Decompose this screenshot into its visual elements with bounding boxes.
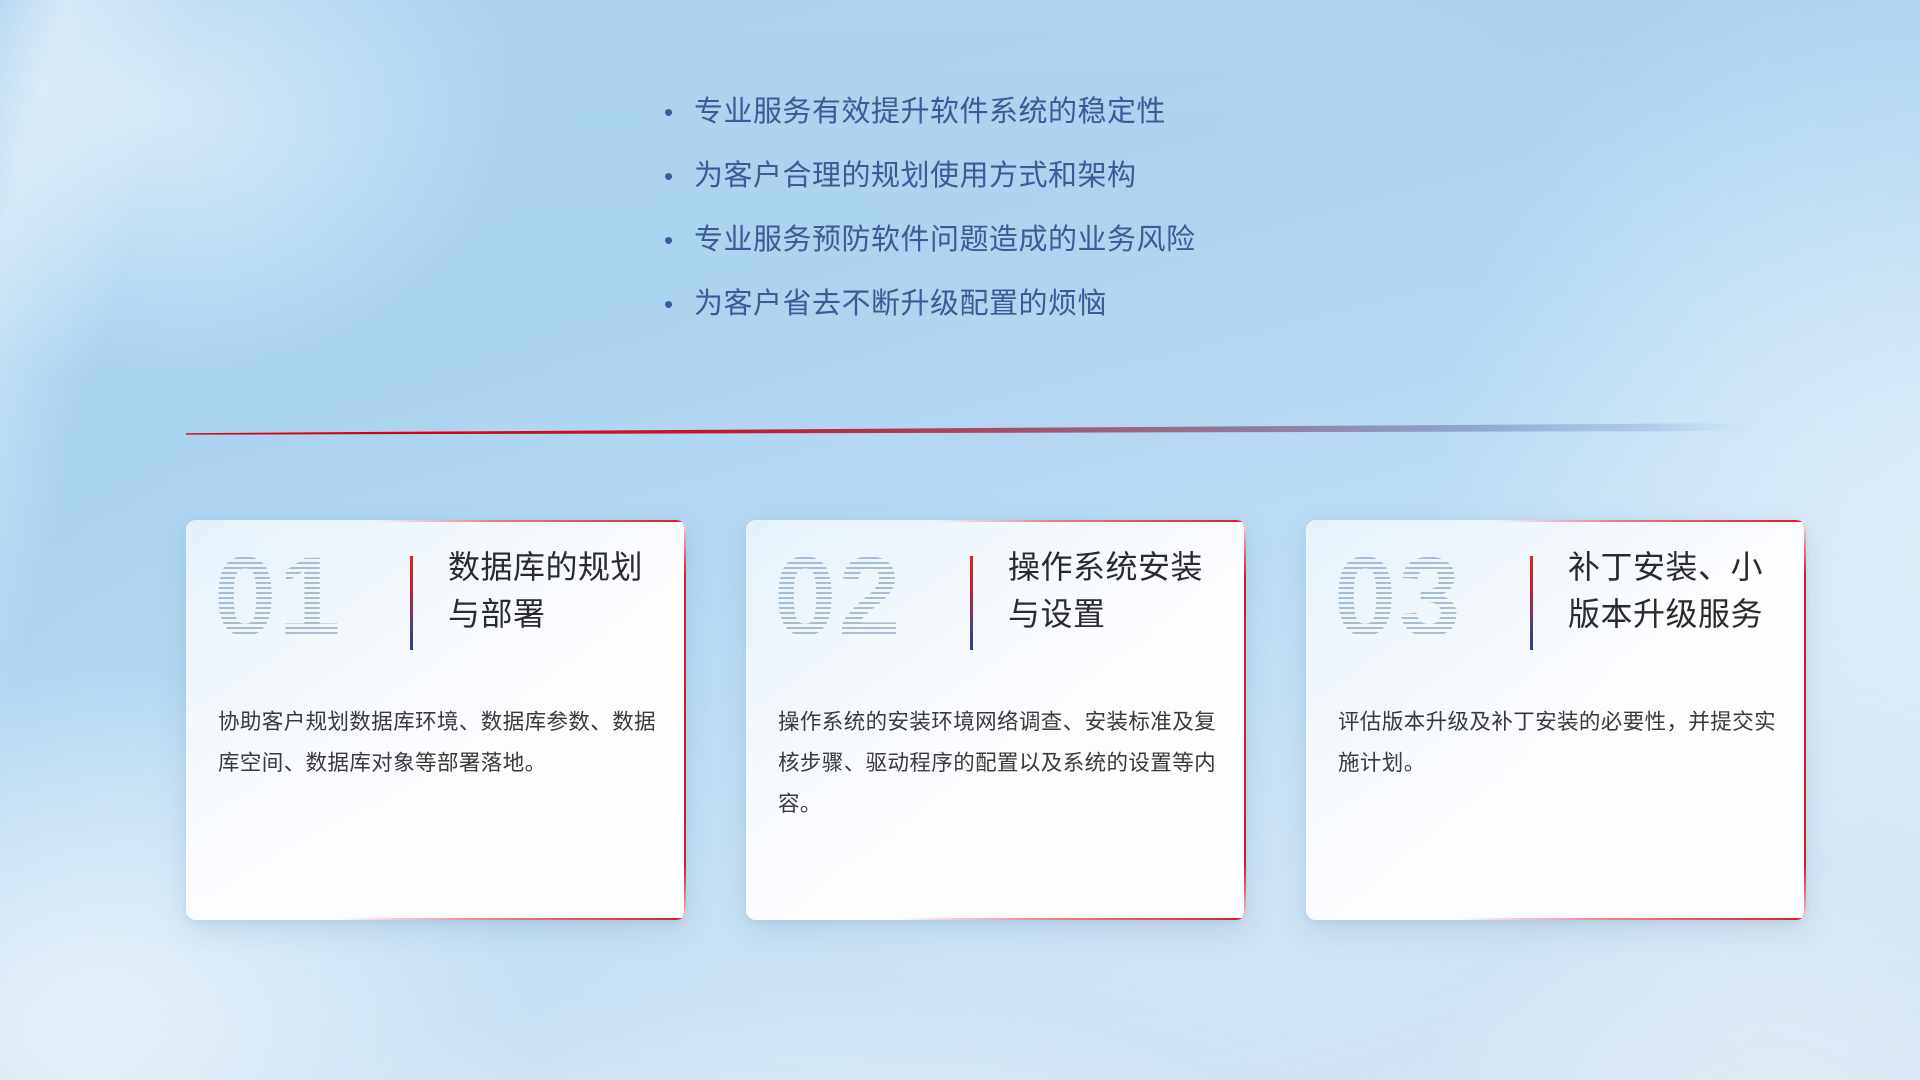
service-cards-row: 01 数据库的规划与部署 协助客户规划数据库环境、数据库参数、数据库空间、数据库… — [186, 520, 1806, 920]
section-divider — [186, 420, 1756, 440]
card-number-watermark: 01 — [214, 532, 404, 662]
service-card[interactable]: 01 数据库的规划与部署 协助客户规划数据库环境、数据库参数、数据库空间、数据库… — [186, 520, 686, 920]
card-title: 数据库的规划与部署 — [448, 544, 668, 638]
card-accent-bar — [410, 556, 413, 650]
bullet-item: • 专业服务有效提升软件系统的稳定性 — [660, 92, 1360, 156]
card-accent-edge-top — [1306, 520, 1806, 522]
service-card[interactable]: 02 操作系统安装与设置 操作系统的安装环境网络调查、安装标准及复核步骤、驱动程… — [746, 520, 1246, 920]
bullet-dot-icon: • — [660, 156, 694, 196]
card-number-watermark: 02 — [774, 532, 964, 662]
card-header: 03 补丁安装、小版本升级服务 — [1306, 538, 1806, 668]
benefits-bullet-list: • 专业服务有效提升软件系统的稳定性 • 为客户合理的规划使用方式和架构 • 专… — [660, 92, 1360, 348]
card-body-text: 协助客户规划数据库环境、数据库参数、数据库空间、数据库对象等部署落地。 — [218, 702, 656, 784]
divider-shape — [186, 420, 1756, 440]
card-accent-edge-bottom — [186, 918, 686, 920]
card-accent-bar — [1530, 556, 1533, 650]
card-number-watermark: 03 — [1334, 532, 1524, 662]
card-accent-edge-bottom — [1306, 918, 1806, 920]
bullet-dot-icon: • — [660, 92, 694, 132]
card-title: 操作系统安装与设置 — [1008, 544, 1228, 638]
card-accent-bar — [970, 556, 973, 650]
bullet-label: 为客户合理的规划使用方式和架构 — [694, 156, 1137, 196]
bullet-dot-icon: • — [660, 220, 694, 260]
card-body-text: 评估版本升级及补丁安装的必要性，并提交实施计划。 — [1338, 702, 1776, 784]
service-card[interactable]: 03 补丁安装、小版本升级服务 评估版本升级及补丁安装的必要性，并提交实施计划。 — [1306, 520, 1806, 920]
bullet-item: • 为客户省去不断升级配置的烦恼 — [660, 284, 1360, 348]
bullet-dot-icon: • — [660, 284, 694, 324]
bullet-label: 专业服务有效提升软件系统的稳定性 — [694, 92, 1166, 132]
card-body-text: 操作系统的安装环境网络调查、安装标准及复核步骤、驱动程序的配置以及系统的设置等内… — [778, 702, 1216, 825]
bullet-item: • 为客户合理的规划使用方式和架构 — [660, 156, 1360, 220]
bullet-label: 专业服务预防软件问题造成的业务风险 — [694, 220, 1196, 260]
card-title: 补丁安装、小版本升级服务 — [1568, 544, 1788, 638]
bullet-item: • 专业服务预防软件问题造成的业务风险 — [660, 220, 1360, 284]
card-header: 01 数据库的规划与部署 — [186, 538, 686, 668]
card-accent-edge-top — [186, 520, 686, 522]
bullet-label: 为客户省去不断升级配置的烦恼 — [694, 284, 1107, 324]
card-accent-edge-top — [746, 520, 1246, 522]
card-header: 02 操作系统安装与设置 — [746, 538, 1246, 668]
card-accent-edge-bottom — [746, 918, 1246, 920]
